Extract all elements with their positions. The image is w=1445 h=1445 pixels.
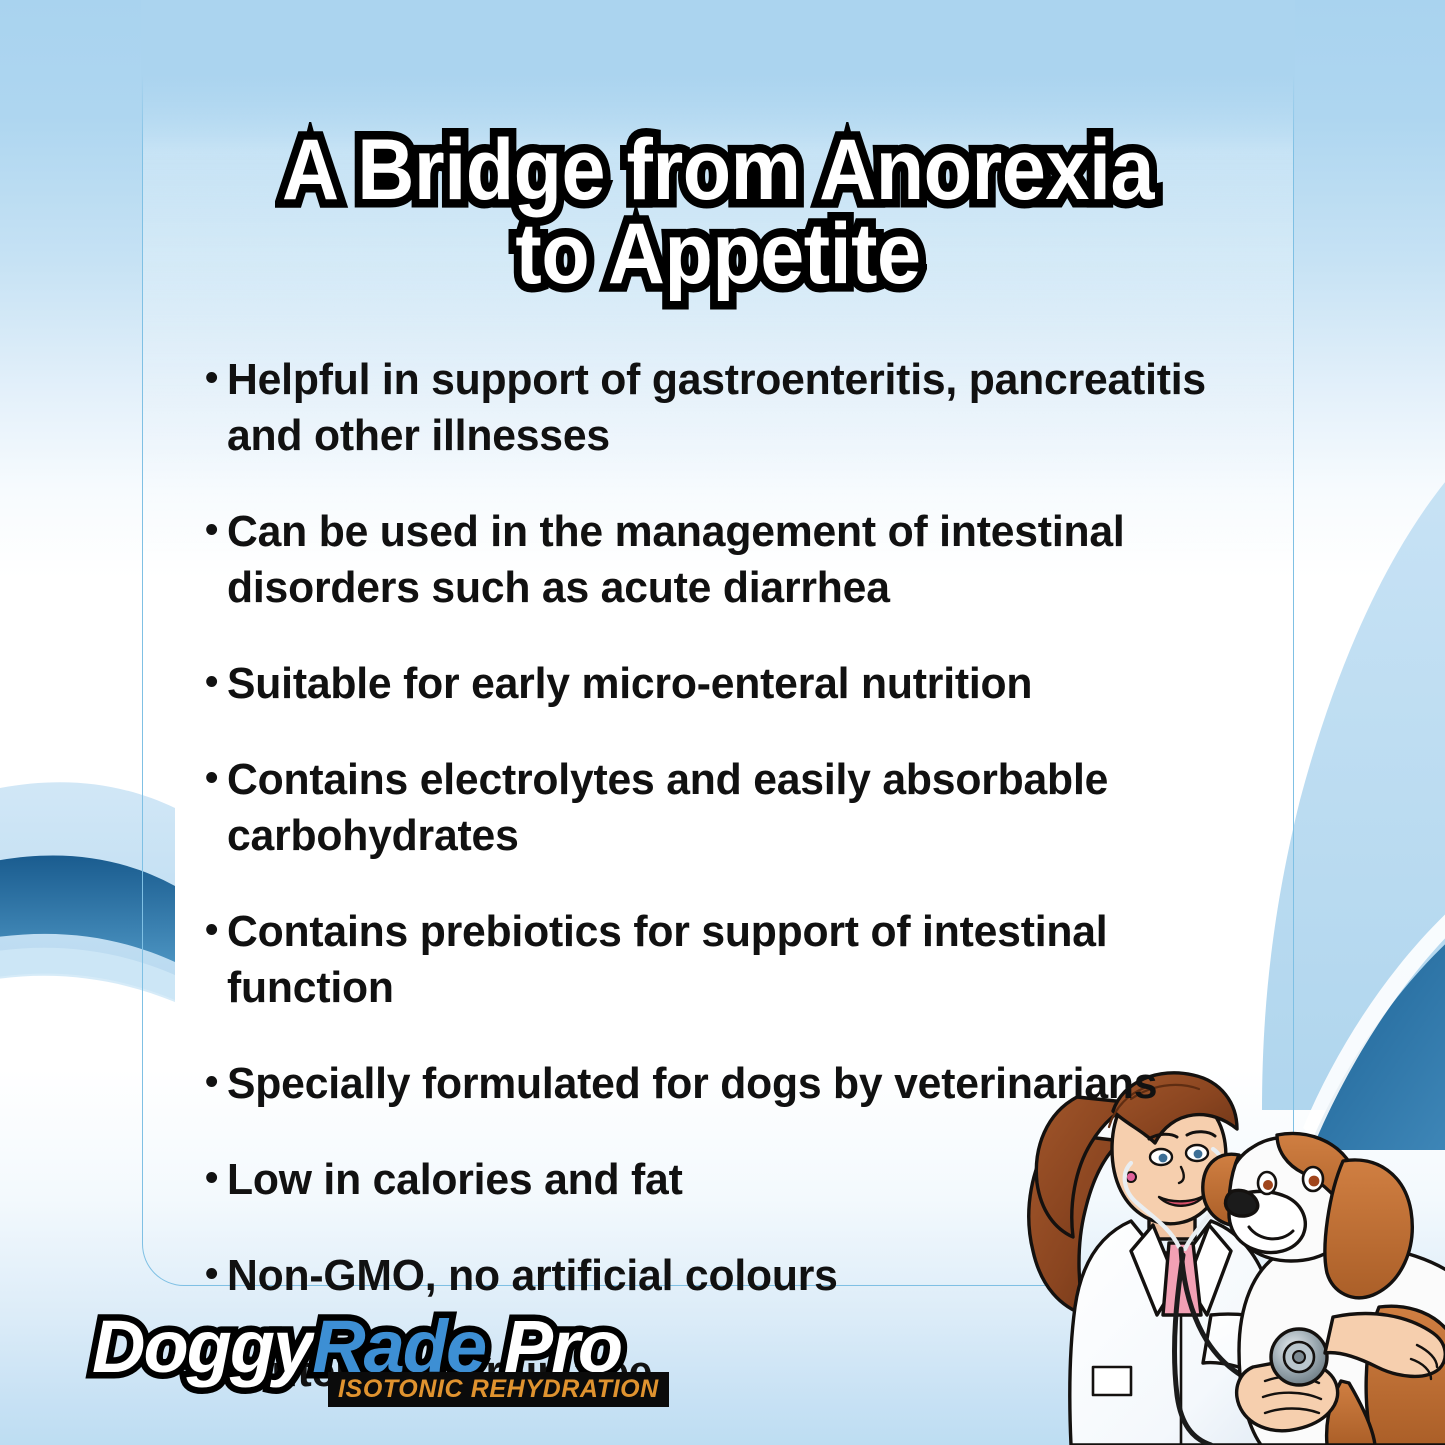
brand-logo-doggy: Doggy <box>92 1305 312 1388</box>
poster-canvas: A Bridge from Anorexia to Appetite • Hel… <box>0 0 1445 1445</box>
list-item-label: Specially formulated for dogs by veterin… <box>227 1056 1234 1112</box>
bullet-marker-icon: • <box>205 656 227 708</box>
list-item-label: Contains prebiotics for support of intes… <box>227 904 1234 1016</box>
bullet-marker-icon: • <box>205 352 227 404</box>
list-item: • Specially formulated for dogs by veter… <box>205 1056 1265 1112</box>
list-item-label: Suitable for early micro-enteral nutriti… <box>227 656 1234 712</box>
list-item: • Contains electrolytes and easily absor… <box>205 752 1265 864</box>
list-item-label: Non-GMO, no artificial colours <box>227 1248 1234 1304</box>
list-item: • Suitable for early micro-enteral nutri… <box>205 656 1265 712</box>
bullet-marker-icon: • <box>205 752 227 804</box>
bullet-marker-icon: • <box>205 1152 227 1204</box>
bullet-marker-icon: • <box>205 1056 227 1108</box>
title-line-1: A Bridge from Anorexia <box>188 128 1248 212</box>
bullet-marker-icon: • <box>205 1248 227 1300</box>
title-line-2: to Appetite <box>188 212 1248 296</box>
brand-logo[interactable]: DoggyRade Pro ISOTONIC REHYDRATION <box>92 1310 621 1406</box>
list-item-label: Contains electrolytes and easily absorba… <box>227 752 1234 864</box>
brand-logo-tagline: ISOTONIC REHYDRATION <box>328 1372 669 1407</box>
page-title: A Bridge from Anorexia to Appetite <box>142 128 1294 297</box>
list-item: • Low in calories and fat <box>205 1152 1265 1208</box>
list-item-label: Helpful in support of gastroenteritis, p… <box>227 352 1234 464</box>
list-item-label: Can be used in the management of intesti… <box>227 504 1234 616</box>
list-item: • Contains prebiotics for support of int… <box>205 904 1265 1016</box>
bullet-marker-icon: • <box>205 904 227 956</box>
list-item: • Can be used in the management of intes… <box>205 504 1265 616</box>
list-item: • Non-GMO, no artificial colours <box>205 1248 1265 1304</box>
benefits-list: • Helpful in support of gastroenteritis,… <box>205 352 1265 1440</box>
list-item: • Helpful in support of gastroenteritis,… <box>205 352 1265 464</box>
list-item-label: Low in calories and fat <box>227 1152 1234 1208</box>
bullet-marker-icon: • <box>205 504 227 556</box>
